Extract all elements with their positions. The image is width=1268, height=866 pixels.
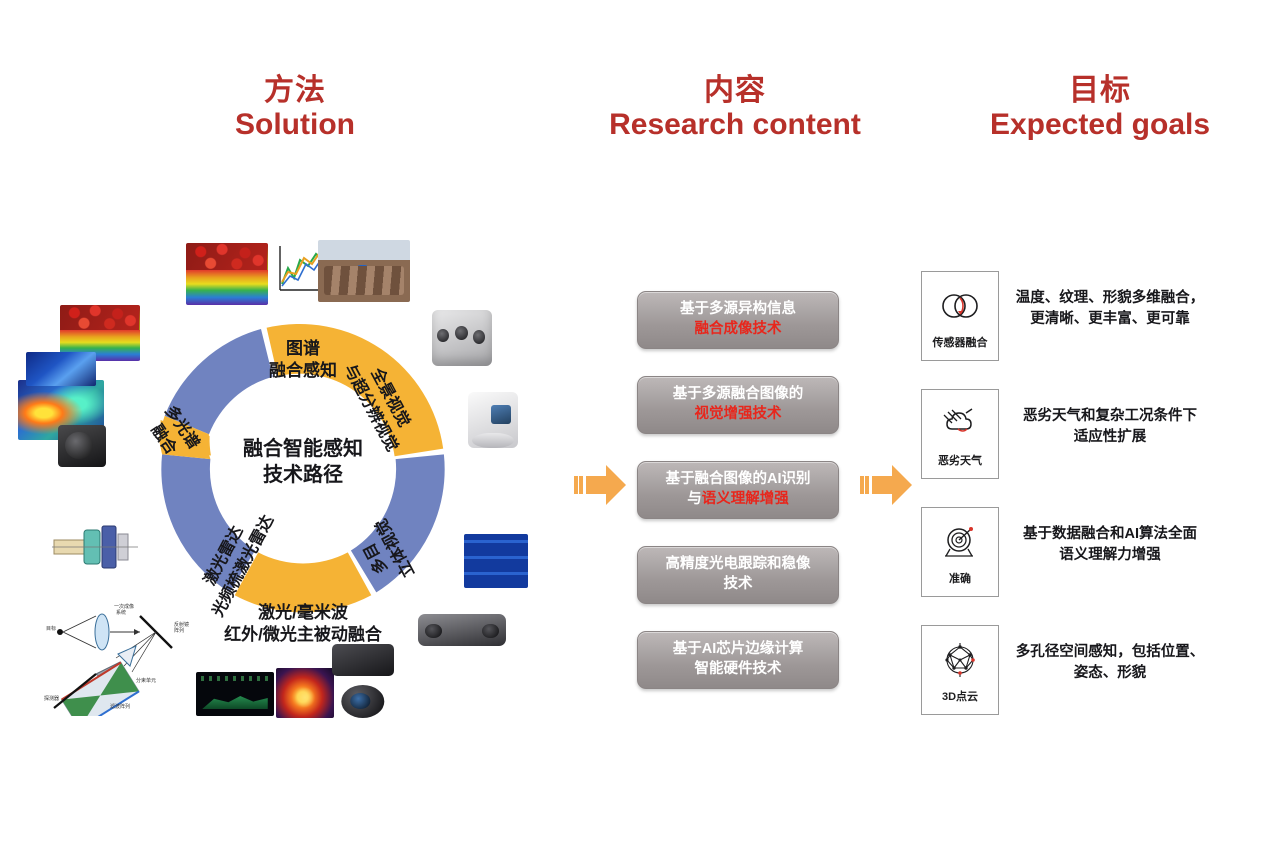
research-box-fusion-imaging[interactable]: 基于多源异构信息 融合成像技术 — [637, 291, 839, 349]
svg-text:融合感知: 融合感知 — [269, 360, 337, 380]
eo-gimbal-ball — [332, 664, 394, 718]
header-cn-goals: 目标 — [955, 74, 1245, 108]
research-box-4-line2: 技术 — [724, 576, 753, 592]
goal-card-4-caption: 3D点云 — [942, 688, 978, 704]
point-cloud-sphere-icon — [938, 626, 982, 688]
research-box-3-line2b: 语义理解增强 — [702, 491, 789, 507]
wheel-label-laser-mmwave-infrared-fusion: 激光/毫米波 红外/微光主被动融合 — [224, 602, 383, 644]
diagram-canvas: 方法 Solution 内容 Research content 目标 Expec… — [0, 0, 1268, 866]
goal-text-2-line1: 恶劣天气和复杂工况条件下 — [985, 406, 1235, 427]
header-en-solution: Solution — [160, 108, 430, 142]
research-box-5-line2: 智能硬件技术 — [695, 661, 782, 677]
research-box-1-line1: 基于多源异构信息 — [680, 301, 796, 317]
goal-text-4-line1: 多孔径空间感知，包括位置、 — [985, 642, 1235, 663]
goal-card-1-caption: 传感器融合 — [933, 334, 988, 350]
research-box-high-precision-tracking[interactable]: 高精度光电跟踪和稳像 技术 — [637, 546, 839, 604]
goal-text-bad-weather: 恶劣天气和复杂工况条件下 适应性扩展 — [985, 406, 1235, 448]
thermal-fire-image — [276, 668, 334, 718]
goal-card-3-caption: 准确 — [949, 570, 971, 586]
svg-text:目标: 目标 — [46, 625, 56, 632]
research-box-3-line2a: 与 — [687, 491, 702, 507]
svg-text:激光/毫米波: 激光/毫米波 — [258, 602, 349, 622]
arrow-solution-to-content — [572, 460, 628, 510]
svg-text:红外/微光主被动融合: 红外/微光主被动融合 — [224, 624, 383, 644]
header-cn-solution: 方法 — [160, 74, 430, 108]
header-en-content: Research content — [590, 108, 880, 142]
research-box-2-line1: 基于多源融合图像的 — [673, 386, 804, 402]
arrow-content-to-goals — [858, 460, 914, 510]
industrial-camera-image — [58, 425, 106, 467]
svg-text:图谱: 图谱 — [286, 338, 320, 358]
column-header-expected-goals: 目标 Expected goals — [955, 74, 1245, 141]
goal-text-sensor-fusion: 温度、纹理、形貌多维融合， 更清晰、更丰富、更可靠 — [985, 288, 1235, 330]
svg-text:探测器: 探测器 — [44, 695, 59, 702]
goal-text-point-cloud: 多孔径空间感知，包括位置、 姿态、形貌 — [985, 642, 1235, 684]
target-dart-icon — [938, 508, 982, 570]
svg-text:滤波阵列: 滤波阵列 — [110, 703, 130, 710]
sonar-image — [26, 352, 96, 386]
column-header-solution: 方法 Solution — [160, 74, 430, 141]
column-header-research-content: 内容 Research content — [590, 74, 880, 141]
goal-text-accuracy: 基于数据融合和AI算法全面 语义理解力增强 — [985, 524, 1235, 566]
svg-text:分束单元: 分束单元 — [136, 677, 156, 684]
research-box-2-line2: 视觉增强技术 — [695, 406, 782, 422]
wheel-center-line1: 融合智能感知 — [203, 436, 403, 462]
goal-text-3-line2: 语义理解力增强 — [985, 545, 1235, 566]
header-cn-content: 内容 — [590, 74, 880, 108]
research-box-ai-recognition-semantics[interactable]: 基于融合图像的AI识别 与语义理解增强 — [637, 461, 839, 519]
research-box-ai-chip-edge-computing[interactable]: 基于AI芯片边缘计算 智能硬件技术 — [637, 631, 839, 689]
technology-roadmap-wheel: 图谱 融合感知 全景视觉 与超分辨视觉 多目 立体视觉 激光/毫米波 红外/微光… — [118, 288, 488, 658]
header-en-goals: Expected goals — [955, 108, 1245, 142]
wheel-center-label: 融合智能感知 技术路径 — [203, 436, 403, 489]
overlapping-circles-icon — [938, 272, 982, 334]
goal-text-1-line1: 温度、纹理、形貌多维融合， — [985, 288, 1235, 309]
rain-cloud-icon — [938, 390, 982, 452]
goal-text-3-line1: 基于数据融合和AI算法全面 — [985, 524, 1235, 545]
wheel-center-line2: 技术路径 — [203, 462, 403, 488]
research-box-3-line1: 基于融合图像的AI识别 — [666, 471, 811, 487]
research-box-1-line2: 融合成像技术 — [695, 321, 782, 337]
research-box-visual-enhancement[interactable]: 基于多源融合图像的 视觉增强技术 — [637, 376, 839, 434]
night-vision-image — [196, 672, 274, 716]
research-box-4-line1: 高精度光电跟踪和稳像 — [666, 556, 811, 572]
research-box-5-line1: 基于AI芯片边缘计算 — [673, 641, 804, 657]
goal-text-2-line2: 适应性扩展 — [985, 427, 1235, 448]
goal-text-4-line2: 姿态、形貌 — [985, 663, 1235, 684]
goal-card-2-caption: 恶劣天气 — [938, 452, 982, 468]
goal-text-1-line2: 更清晰、更丰富、更可靠 — [985, 309, 1235, 330]
